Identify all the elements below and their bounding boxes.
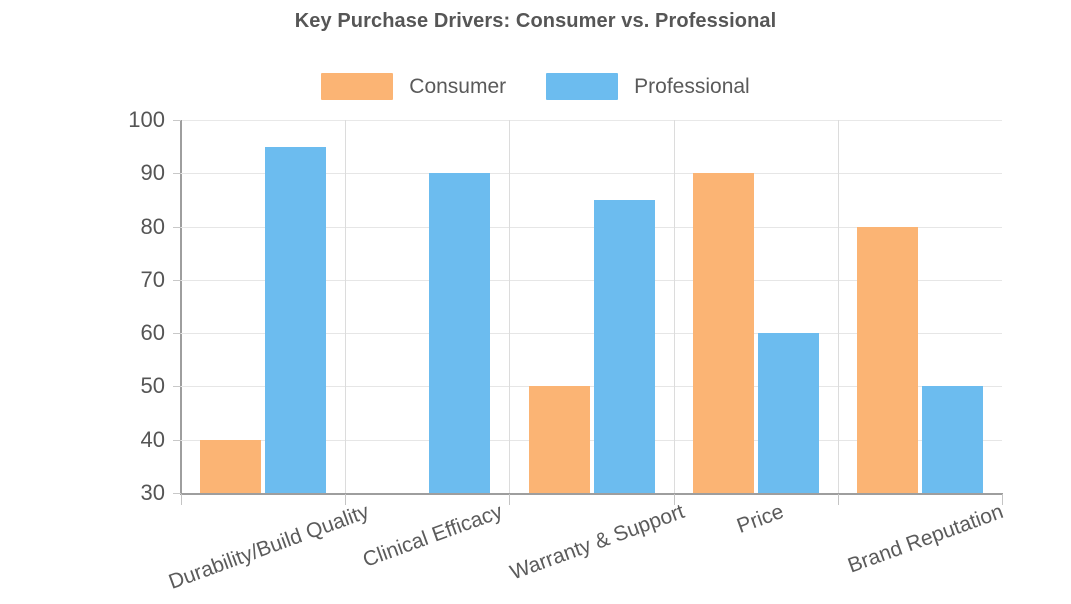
bar-consumer-2[interactable]: [529, 386, 590, 493]
bar-chart: Key Purchase Drivers: Consumer vs. Profe…: [0, 0, 1071, 604]
bar-consumer-4[interactable]: [857, 227, 918, 493]
bar-professional-4[interactable]: [922, 386, 983, 493]
legend-item-consumer[interactable]: Consumer: [321, 73, 506, 100]
y-tick-mark-30: [173, 493, 181, 494]
x-tick-mark-1: [345, 494, 346, 505]
legend-swatch-consumer: [321, 73, 393, 100]
x-axis-line: [180, 493, 1003, 495]
x-axis-label-4: Brand Reputation: [845, 500, 1007, 578]
gridline-x-2: [509, 120, 510, 493]
y-tick-label-70: 70: [41, 269, 165, 291]
bar-professional-3[interactable]: [758, 333, 819, 493]
legend-item-professional[interactable]: Professional: [546, 73, 750, 100]
y-tick-label-40: 40: [41, 429, 165, 451]
y-tick-mark-50: [173, 386, 181, 387]
gridline-x-3: [674, 120, 675, 493]
legend-label-professional: Professional: [634, 75, 750, 99]
plot-area: 30405060708090100: [181, 120, 1002, 493]
legend-swatch-professional: [546, 73, 618, 100]
plot-top-border: [181, 120, 1002, 121]
y-axis-line: [180, 120, 182, 494]
y-tick-label-90: 90: [41, 162, 165, 184]
y-tick-mark-70: [173, 280, 181, 281]
y-tick-label-100: 100: [41, 109, 165, 131]
x-tick-mark-2: [509, 494, 510, 505]
bar-professional-2[interactable]: [594, 200, 655, 493]
x-tick-mark-5: [1002, 494, 1003, 505]
bar-consumer-0[interactable]: [200, 440, 261, 493]
x-axis-label-2: Warranty & Support: [507, 500, 688, 585]
y-tick-mark-40: [173, 440, 181, 441]
bar-consumer-3[interactable]: [693, 173, 754, 493]
chart-title: Key Purchase Drivers: Consumer vs. Profe…: [0, 10, 1071, 33]
y-tick-mark-80: [173, 227, 181, 228]
x-tick-mark-4: [838, 494, 839, 505]
x-axis-label-0: Durability/Build Quality: [166, 500, 373, 595]
y-tick-label-50: 50: [41, 375, 165, 397]
x-axis-label-1: Clinical Efficacy: [360, 500, 506, 573]
gridline-x-1: [345, 120, 346, 493]
y-tick-mark-60: [173, 333, 181, 334]
y-tick-label-80: 80: [41, 216, 165, 238]
x-axis-label-3: Price: [734, 500, 787, 539]
bar-professional-0[interactable]: [265, 147, 326, 493]
y-tick-label-60: 60: [41, 322, 165, 344]
y-tick-label-30: 30: [41, 482, 165, 504]
chart-legend: Consumer Professional: [0, 73, 1071, 100]
gridline-x-4: [838, 120, 839, 493]
legend-label-consumer: Consumer: [409, 75, 506, 99]
x-tick-mark-0: [181, 494, 182, 505]
y-tick-mark-90: [173, 173, 181, 174]
bar-professional-1[interactable]: [429, 173, 490, 493]
y-tick-mark-100: [173, 120, 181, 121]
